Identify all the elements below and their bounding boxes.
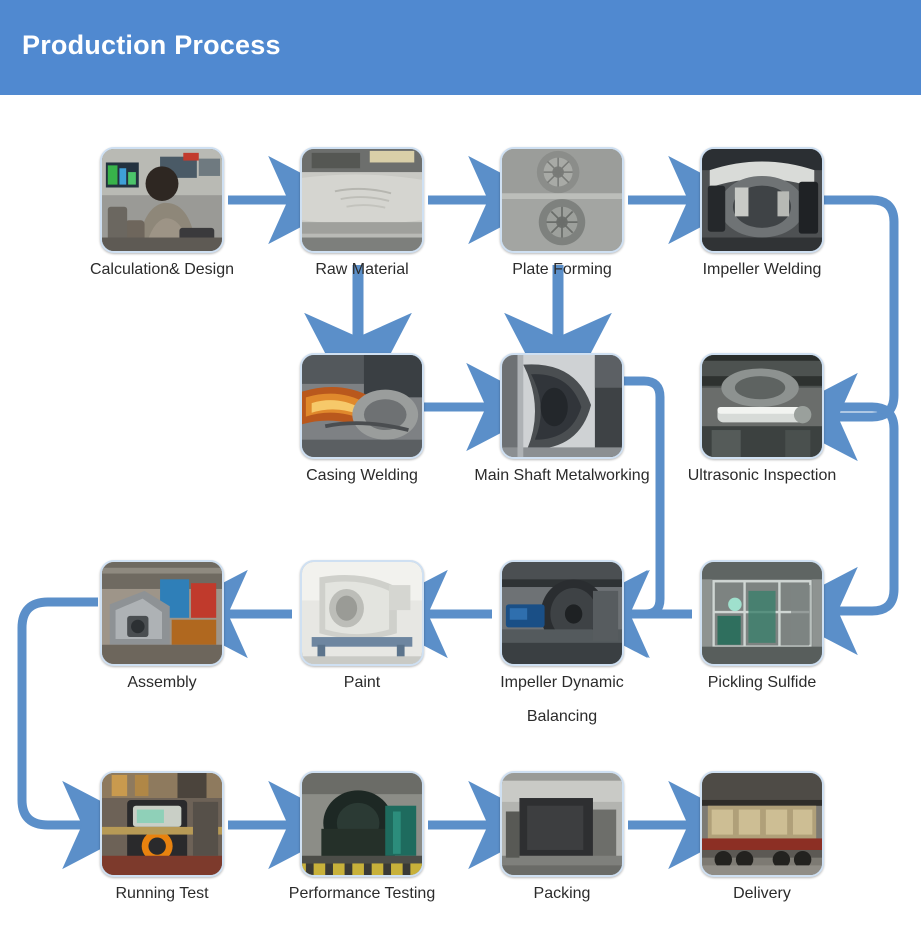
photo-delivery (702, 773, 822, 875)
page-title: Production Process (22, 30, 281, 61)
thumbnail-pickling-sulfide[interactable] (700, 560, 824, 666)
node-label-raw-material: Raw Material (300, 260, 424, 280)
process-flow-diagram: Calculation& Design (0, 95, 921, 947)
process-node-main-shaft-metalworking[interactable]: Main Shaft Metalworking (500, 353, 624, 486)
photo-running-test (102, 773, 222, 875)
node-label-pickling-sulfide: Pickling Sulfide (662, 673, 862, 693)
photo-paint (302, 562, 422, 664)
process-node-delivery[interactable]: Delivery (700, 771, 824, 904)
thumbnail-performance-testing[interactable] (300, 771, 424, 877)
thumbnail-impeller-welding[interactable] (700, 147, 824, 253)
thumbnail-casing-welding[interactable] (300, 353, 424, 459)
thumbnail-impeller-dynamic-balancing[interactable] (500, 560, 624, 666)
process-node-pickling-sulfide[interactable]: Pickling Sulfide (700, 560, 824, 693)
photo-plate-forming (502, 149, 622, 251)
process-node-assembly[interactable]: Assembly (100, 560, 224, 693)
edge-assembly-to-runningtest (22, 602, 98, 825)
photo-ultrasonic-inspection (702, 355, 822, 457)
node-label-assembly: Assembly (100, 673, 224, 693)
node-label-packing: Packing (500, 884, 624, 904)
node-label-ultrasonic-inspection: Ultrasonic Inspection (632, 466, 892, 486)
process-node-performance-testing[interactable]: Performance Testing (300, 771, 424, 904)
photo-packing (502, 773, 622, 875)
production-process-page: Production Process (0, 0, 921, 947)
process-node-packing[interactable]: Packing (500, 771, 624, 904)
thumbnail-ultrasonic-inspection[interactable] (700, 353, 824, 459)
edge-impellerwelding-to-ultrasonic (824, 200, 894, 417)
photo-main-shaft-metalworking (502, 355, 622, 457)
photo-performance-testing (302, 773, 422, 875)
photo-casing-welding (302, 355, 422, 457)
node-label-performance-testing: Performance Testing (232, 884, 492, 904)
node-label-impeller-dynamic-balancing-line1: Impeller Dynamic (462, 673, 662, 693)
thumbnail-plate-forming[interactable] (500, 147, 624, 253)
process-node-raw-material[interactable]: Raw Material (300, 147, 424, 280)
node-label-delivery: Delivery (700, 884, 824, 904)
node-label-paint: Paint (300, 673, 424, 693)
photo-impeller-dynamic-balancing (502, 562, 622, 664)
process-node-impeller-welding[interactable]: Impeller Welding (700, 147, 824, 280)
photo-calculation-design (102, 149, 222, 251)
photo-assembly (102, 562, 222, 664)
thumbnail-calculation-design[interactable] (100, 147, 224, 253)
node-label-calculation-design: Calculation& Design (62, 260, 262, 280)
thumbnail-paint[interactable] (300, 560, 424, 666)
node-label-plate-forming: Plate Forming (500, 260, 624, 280)
node-label-impeller-welding: Impeller Welding (662, 260, 862, 280)
process-node-calculation-design[interactable]: Calculation& Design (100, 147, 224, 280)
thumbnail-delivery[interactable] (700, 771, 824, 877)
thumbnail-assembly[interactable] (100, 560, 224, 666)
thumbnail-running-test[interactable] (100, 771, 224, 877)
node-label-impeller-dynamic-balancing-line2: Balancing (462, 707, 662, 727)
node-label-running-test: Running Test (100, 884, 224, 904)
photo-impeller-welding (702, 149, 822, 251)
photo-raw-material (302, 149, 422, 251)
process-node-plate-forming[interactable]: Plate Forming (500, 147, 624, 280)
thumbnail-packing[interactable] (500, 771, 624, 877)
edge-ultrasonic-to-pickling (824, 407, 894, 611)
process-node-paint[interactable]: Paint (300, 560, 424, 693)
photo-pickling-sulfide (702, 562, 822, 664)
process-node-ultrasonic-inspection[interactable]: Ultrasonic Inspection (700, 353, 824, 486)
thumbnail-main-shaft-metalworking[interactable] (500, 353, 624, 459)
page-header: Production Process (0, 0, 921, 95)
thumbnail-raw-material[interactable] (300, 147, 424, 253)
process-node-impeller-dynamic-balancing[interactable]: Impeller Dynamic Balancing (500, 560, 624, 727)
process-node-running-test[interactable]: Running Test (100, 771, 224, 904)
process-node-casing-welding[interactable]: Casing Welding (300, 353, 424, 486)
edge-mainshaft-to-dynamic (620, 381, 660, 614)
